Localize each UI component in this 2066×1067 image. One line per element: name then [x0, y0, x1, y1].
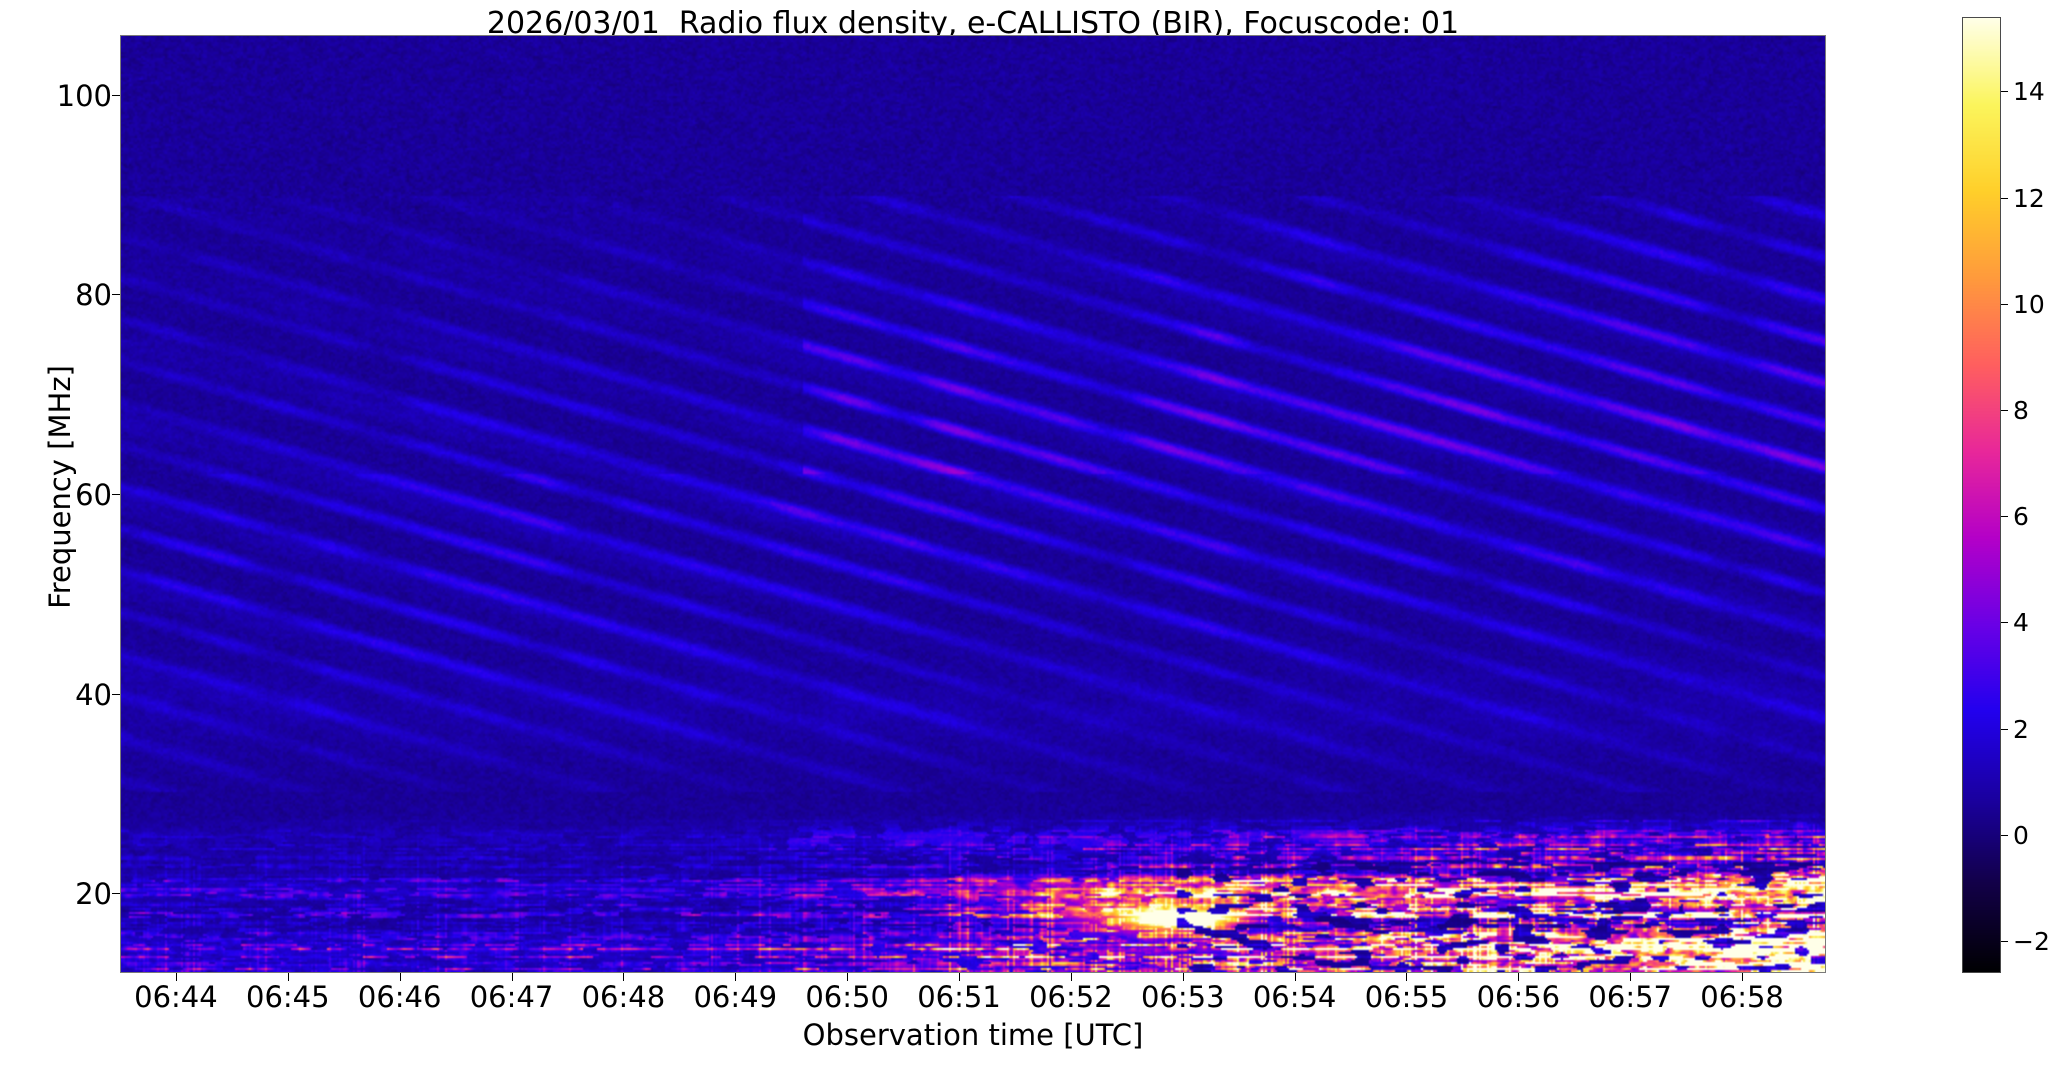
colorbar-tick-mark — [2001, 516, 2008, 517]
y-tick-label: 80 — [0, 278, 112, 312]
spectrogram-image — [121, 36, 1825, 972]
x-tick-mark — [288, 973, 289, 981]
x-tick-mark — [959, 973, 960, 981]
x-tick-mark — [1742, 973, 1743, 981]
x-tick-mark — [847, 973, 848, 981]
x-tick-mark — [1630, 973, 1631, 981]
y-tick-label: 20 — [0, 877, 112, 911]
colorbar-tick-mark — [2001, 941, 2008, 942]
x-tick-label: 06:58 — [1662, 980, 1822, 1014]
x-tick-mark — [735, 973, 736, 981]
spectrogram-plot-area[interactable] — [120, 35, 1826, 973]
colorbar[interactable] — [1962, 17, 2001, 973]
colorbar-tick-label: 6 — [2013, 502, 2029, 531]
colorbar-tick-mark — [2001, 729, 2008, 730]
x-tick-mark — [400, 973, 401, 981]
colorbar-tick-label: 14 — [2013, 77, 2045, 106]
x-axis-label: Observation time [UTC] — [120, 1018, 1826, 1052]
colorbar-tick-label: 2 — [2013, 715, 2029, 744]
colorbar-tick-mark — [2001, 198, 2008, 199]
colorbar-tick-label: −2 — [2013, 927, 2050, 956]
colorbar-tick-label: 10 — [2013, 290, 2045, 319]
colorbar-tick-mark — [2001, 622, 2008, 623]
colorbar-gradient — [1963, 18, 2000, 972]
colorbar-tick-label: 4 — [2013, 608, 2029, 637]
colorbar-tick-mark — [2001, 410, 2008, 411]
y-tick-label: 40 — [0, 678, 112, 712]
y-tick-mark — [112, 95, 120, 96]
y-tick-label: 100 — [0, 79, 112, 113]
x-tick-mark — [1406, 973, 1407, 981]
colorbar-tick-label: 8 — [2013, 396, 2029, 425]
y-tick-mark — [112, 893, 120, 894]
y-tick-label: 60 — [0, 478, 112, 512]
x-tick-mark — [1183, 973, 1184, 981]
colorbar-tick-mark — [2001, 835, 2008, 836]
y-tick-mark — [112, 494, 120, 495]
x-tick-mark — [623, 973, 624, 981]
y-tick-mark — [112, 694, 120, 695]
colorbar-tick-label: 12 — [2013, 184, 2045, 213]
colorbar-tick-mark — [2001, 304, 2008, 305]
x-tick-mark — [1071, 973, 1072, 981]
y-tick-mark — [112, 294, 120, 295]
x-tick-mark — [1518, 973, 1519, 981]
x-tick-mark — [176, 973, 177, 981]
colorbar-tick-label: 0 — [2013, 821, 2029, 850]
x-tick-mark — [1295, 973, 1296, 981]
spectrogram-figure: 2026/03/01 Radio flux density, e-CALLIST… — [0, 0, 2066, 1067]
x-tick-mark — [512, 973, 513, 981]
colorbar-tick-mark — [2001, 91, 2008, 92]
